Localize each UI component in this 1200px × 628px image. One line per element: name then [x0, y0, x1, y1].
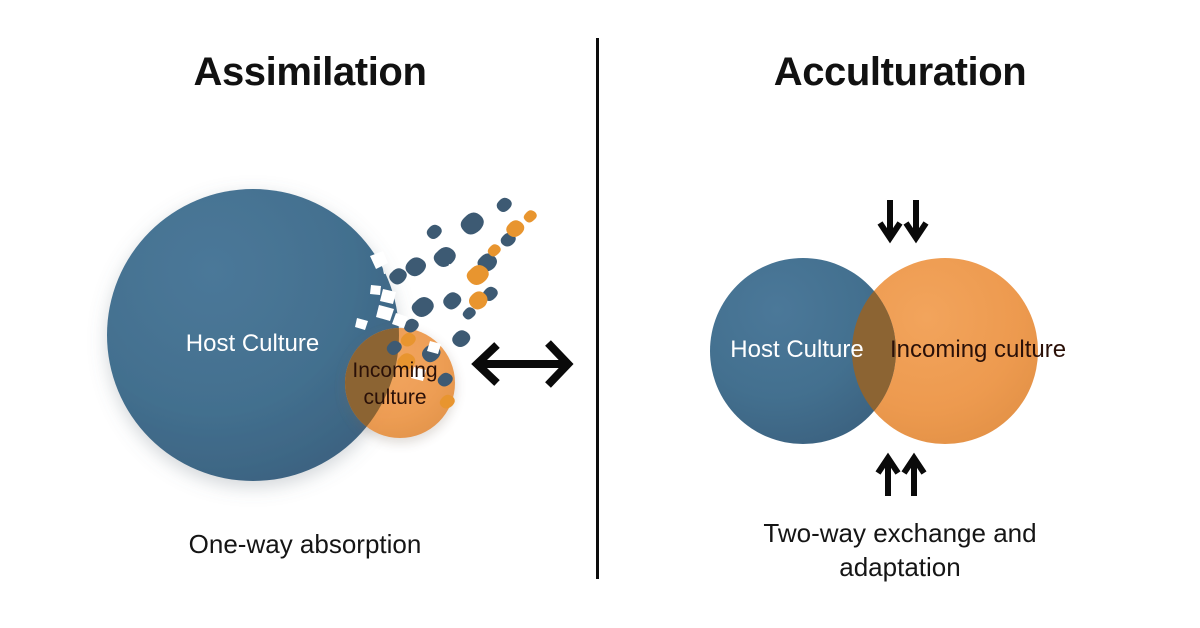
diagram-canvas: Assimilation Acculturation [0, 0, 1200, 628]
two-way-arrow-left [477, 343, 568, 385]
acculturation-illustration [710, 200, 1038, 496]
host-culture-circle-left [107, 189, 399, 481]
caption-acculturation: Two-way exchange and adaptation [700, 516, 1100, 585]
down-arrow-pair [880, 200, 926, 238]
up-arrow-pair [878, 458, 924, 496]
caption-assimilation: One-way absorption [110, 527, 500, 561]
caption-acculturation-line1: Two-way exchange and [763, 518, 1036, 548]
assimilation-illustration [107, 189, 568, 481]
caption-acculturation-line2: adaptation [839, 552, 960, 582]
